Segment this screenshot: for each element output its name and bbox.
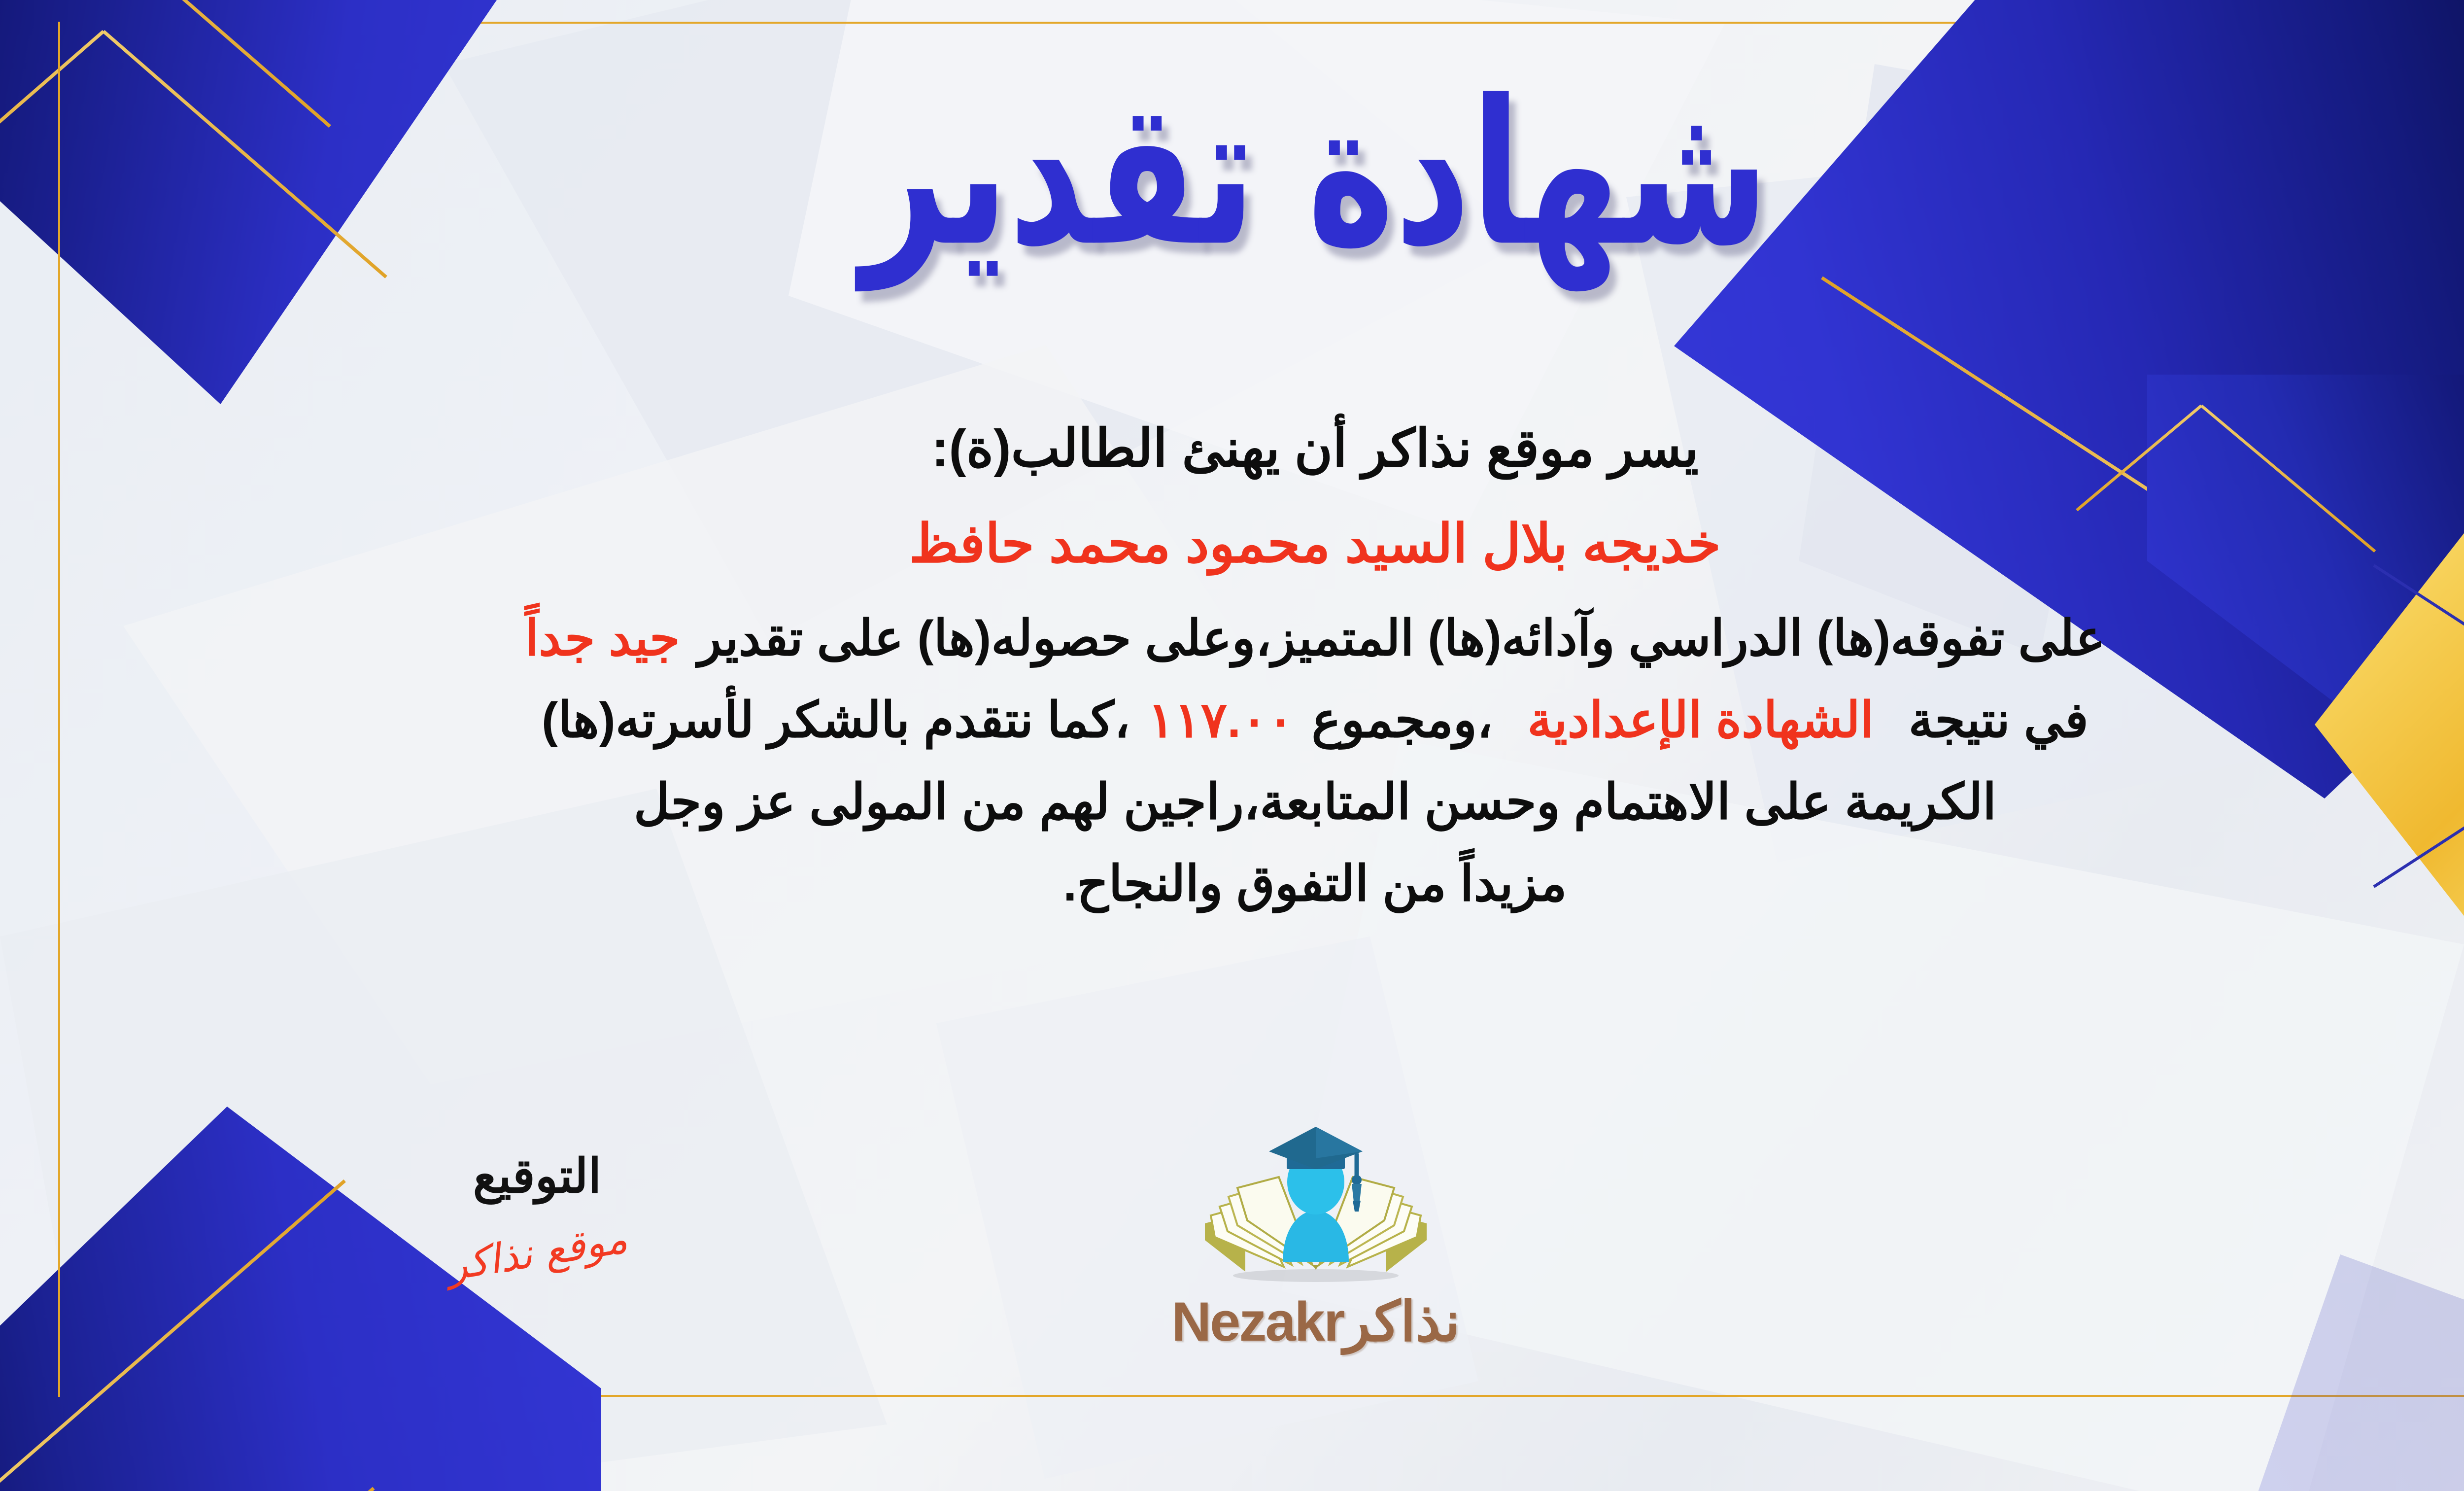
grade-value: جيد جداً [525, 611, 680, 666]
certificate-content: شهادة تقدير يسر موقع نذاكر أن يهنئ الطال… [0, 0, 2464, 1491]
student-name-line: خديجه بلال السيد محمود محمد حافظ [148, 503, 2464, 584]
intro-text: يسر موقع نذاكر أن يهنئ الطالب(ة): [931, 419, 1699, 478]
signature-label: التوقيع [365, 1148, 710, 1204]
certificate-canvas: شهادة تقدير يسر موقع نذاكر أن يهنئ الطال… [0, 0, 2464, 1491]
page-title: شهادة تقدير [0, 69, 2464, 278]
exam-result-line: في نتيجةالشهادة الإعدادية،ومجموع١١٧.٠٠،ك… [148, 683, 2464, 758]
family-thanks-text: الكريمة على الاهتمام وحسن المتابعة،راجين… [634, 774, 1996, 830]
exam-name: الشهادة الإعدادية [1527, 693, 1874, 748]
logo-wordmark-latin: Nezakr [1171, 1291, 1343, 1352]
exam-prefix: في نتيجة [1909, 693, 2088, 748]
logo-wordmark: نذاكرNezakr [1129, 1294, 1503, 1350]
logo-wordmark-arabic: نذاكر [1344, 1291, 1460, 1352]
achievement-text: على تفوقه(ها) الدراسي وآدائه(ها) المتميز… [698, 611, 2105, 666]
thanks-prefix: ،كما نتقدم بالشكر لأسرته(ها) [542, 693, 1130, 748]
closing-text: مزيداً من التفوق والنجاح. [1063, 856, 1567, 911]
intro-line: يسر موقع نذاكر أن يهنئ الطالب(ة): [148, 409, 2464, 488]
achievement-line: على تفوقه(ها) الدراسي وآدائه(ها) المتميز… [148, 601, 2464, 676]
signature-mark: موقع نذاكر [444, 1215, 630, 1290]
site-logo: نذاكرNezakr [1129, 1119, 1503, 1350]
certificate-body: يسر موقع نذاكر أن يهنئ الطالب(ة): خديجه … [148, 409, 2464, 928]
graduate-book-icon [1129, 1119, 1503, 1291]
total-score: ١١٧.٠٠ [1148, 693, 1294, 748]
signature-block: التوقيع موقع نذاكر [365, 1148, 710, 1276]
total-prefix: ،ومجموع [1311, 693, 1493, 748]
student-name: خديجه بلال السيد محمود محمد حافظ [909, 514, 1721, 573]
family-thanks-line: الكريمة على الاهتمام وحسن المتابعة،راجين… [148, 764, 2464, 839]
closing-line: مزيداً من التفوق والنجاح. [148, 846, 2464, 921]
